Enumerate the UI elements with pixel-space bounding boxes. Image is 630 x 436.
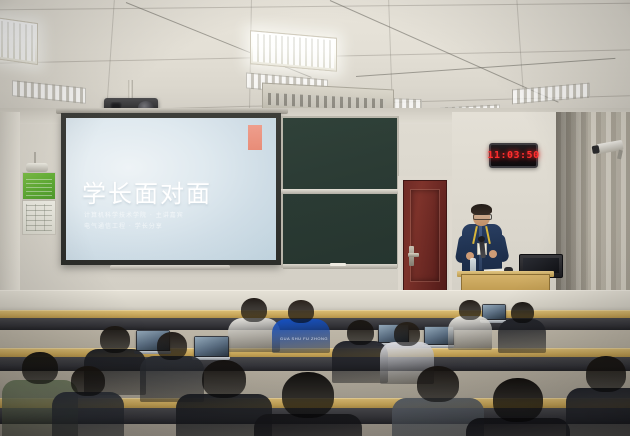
speaker-right-hand bbox=[489, 250, 497, 258]
projection-screen: 学长面对面 计算机科学技术学院 · 主讲嘉宾 电气通信工程 · 学长分享 bbox=[61, 113, 281, 265]
person-torso bbox=[448, 316, 492, 350]
left-wall-pillar bbox=[0, 112, 20, 312]
glasses-icon bbox=[473, 214, 492, 220]
slide-surface: 学长面对面 计算机科学技术学院 · 主讲嘉宾 电气通信工程 · 学长分享 bbox=[66, 118, 276, 260]
person-head bbox=[417, 366, 459, 402]
person-head bbox=[493, 378, 543, 422]
door-handle-icon[interactable] bbox=[408, 253, 419, 257]
person-head bbox=[459, 300, 481, 320]
person-head bbox=[157, 332, 187, 360]
window-curtain-shadow bbox=[556, 112, 588, 312]
projector-mount-pole bbox=[128, 80, 133, 100]
laptop-screen bbox=[194, 336, 229, 357]
slide-accent-block bbox=[248, 125, 262, 150]
person-head bbox=[288, 300, 314, 323]
person-head bbox=[241, 298, 267, 322]
person-head bbox=[586, 356, 626, 392]
person-head bbox=[100, 326, 130, 353]
person-head bbox=[71, 366, 105, 396]
slide-subtitle-line1: 计算机科学技术学院 · 主讲嘉宾 bbox=[84, 210, 184, 219]
person-head bbox=[22, 352, 58, 384]
panel-light-left bbox=[0, 17, 38, 65]
notice-poster-green bbox=[22, 172, 56, 200]
lecture-hall-photo: 学长面对面 计算机科学技术学院 · 主讲嘉宾 电气通信工程 · 学长分享 11:… bbox=[0, 0, 630, 436]
person-torso bbox=[566, 388, 630, 436]
chalkboard-divider bbox=[281, 189, 399, 194]
screen-bottom-bar bbox=[110, 265, 230, 270]
door-panel bbox=[410, 189, 440, 282]
notice-board-white bbox=[22, 200, 56, 235]
led-wall-clock: 11:03:50 bbox=[489, 143, 538, 168]
clock-time: 11:03:50 bbox=[487, 150, 539, 161]
person-torso bbox=[52, 392, 124, 436]
person-head bbox=[394, 322, 420, 346]
chalk-piece bbox=[330, 263, 346, 266]
person-torso bbox=[498, 319, 546, 353]
slide-title: 学长面对面 bbox=[82, 174, 212, 209]
slide-subtitle-line2: 电气通信工程 · 学长分享 bbox=[84, 221, 163, 230]
classroom-door[interactable] bbox=[403, 180, 447, 293]
person-head bbox=[282, 372, 334, 418]
jacket-text: GUA SHU FU ZHONG bbox=[280, 336, 328, 341]
person-head bbox=[511, 302, 534, 323]
person-head bbox=[202, 360, 246, 398]
poster-lamp bbox=[26, 163, 48, 172]
person-head bbox=[347, 320, 374, 345]
